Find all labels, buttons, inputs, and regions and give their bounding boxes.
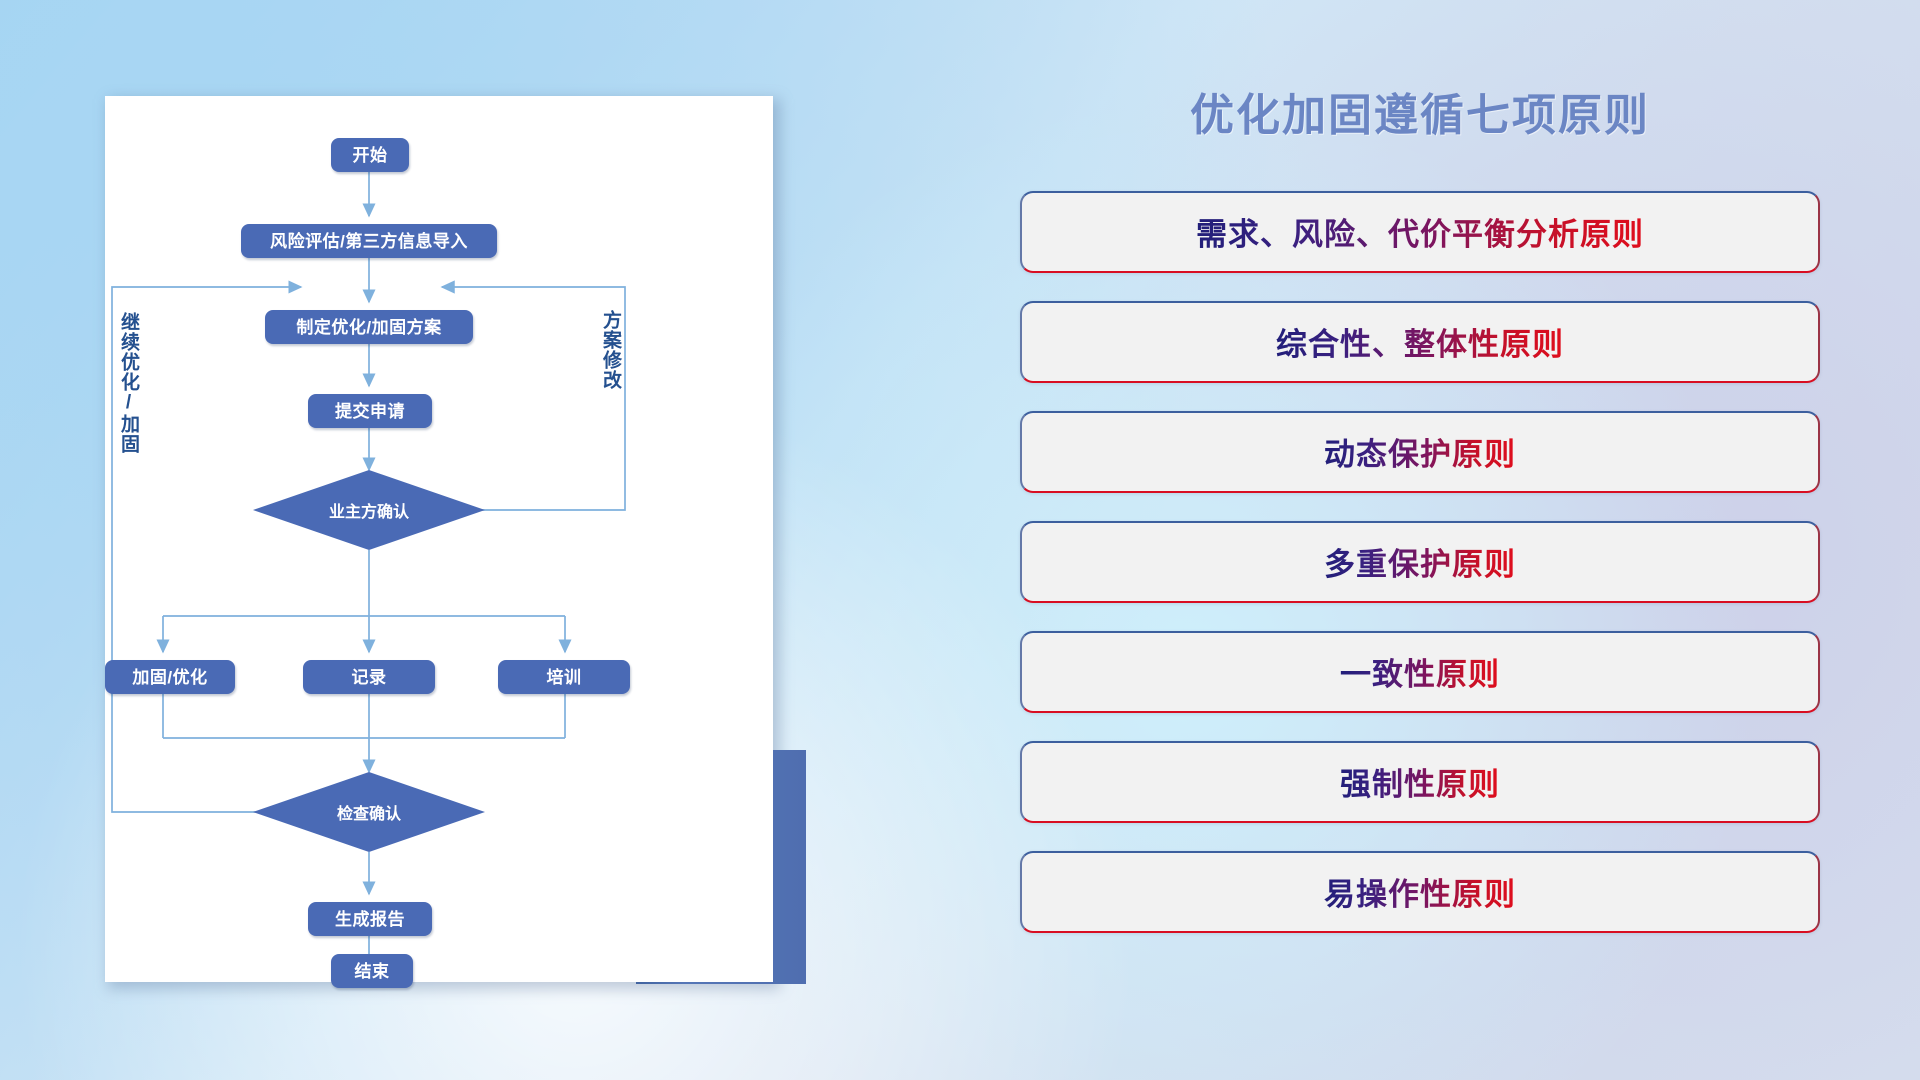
flow-node-start[interactable]: 开始 [331,138,409,172]
flowchart-card: 开始 风险评估/第三方信息导入 制定优化/加固方案 提交申请 业主方确认 加固/… [105,96,773,982]
principle-item-label: 一致性原则 [1340,649,1500,694]
flow-node-record-label: 记录 [352,669,387,686]
flow-node-reinforce-optimize-label: 加固/优化 [132,669,207,686]
flow-node-make-plan-label: 制定优化/加固方案 [296,319,441,336]
principle-item[interactable]: 多重保护原则 [1020,521,1820,603]
flow-node-end[interactable]: 结束 [331,954,413,988]
flow-node-make-plan[interactable]: 制定优化/加固方案 [265,310,473,344]
flow-node-submit-application-label: 提交申请 [335,403,405,420]
edge-label-plan-revision: 方案修改 [601,310,620,390]
panel-title: 优化加固遵循七项原则 [1020,90,1820,143]
principle-item[interactable]: 需求、风险、代价平衡分析原则 [1020,191,1820,273]
principle-item-label: 强制性原则 [1340,759,1500,804]
flow-node-generate-report[interactable]: 生成报告 [308,902,432,936]
flow-node-submit-application[interactable]: 提交申请 [308,394,432,428]
flow-node-end-label: 结束 [355,963,390,980]
flow-node-reinforce-optimize[interactable]: 加固/优化 [105,660,235,694]
flow-node-risk-assessment-label: 风险评估/第三方信息导入 [270,233,468,250]
principle-item-label: 动态保护原则 [1324,429,1516,474]
principle-item-label: 易操作性原则 [1324,869,1516,914]
principle-item[interactable]: 强制性原则 [1020,741,1820,823]
flow-node-generate-report-label: 生成报告 [335,911,405,928]
principle-item[interactable]: 易操作性原则 [1020,851,1820,933]
flow-node-record[interactable]: 记录 [303,660,435,694]
edge-label-continue-loop: 继续优化/加固 [119,312,138,454]
principle-list: 需求、风险、代价平衡分析原则 综合性、整体性原则 动态保护原则 多重保护原则 一… [1020,191,1820,933]
flow-node-training-label: 培训 [547,669,582,686]
flow-node-training[interactable]: 培训 [498,660,630,694]
decision-owner-confirm-shape [253,470,485,550]
principle-item-label: 多重保护原则 [1324,539,1516,584]
principle-item-label: 需求、风险、代价平衡分析原则 [1196,209,1644,254]
flow-node-risk-assessment[interactable]: 风险评估/第三方信息导入 [241,224,497,258]
principle-item-label: 综合性、整体性原则 [1276,319,1564,364]
principles-panel: 优化加固遵循七项原则 需求、风险、代价平衡分析原则 综合性、整体性原则 动态保护… [1020,90,1820,961]
flow-node-start-label: 开始 [353,147,388,164]
principle-item[interactable]: 综合性、整体性原则 [1020,301,1820,383]
principle-item[interactable]: 一致性原则 [1020,631,1820,713]
principle-item[interactable]: 动态保护原则 [1020,411,1820,493]
decision-inspect-confirm-shape [253,772,485,852]
